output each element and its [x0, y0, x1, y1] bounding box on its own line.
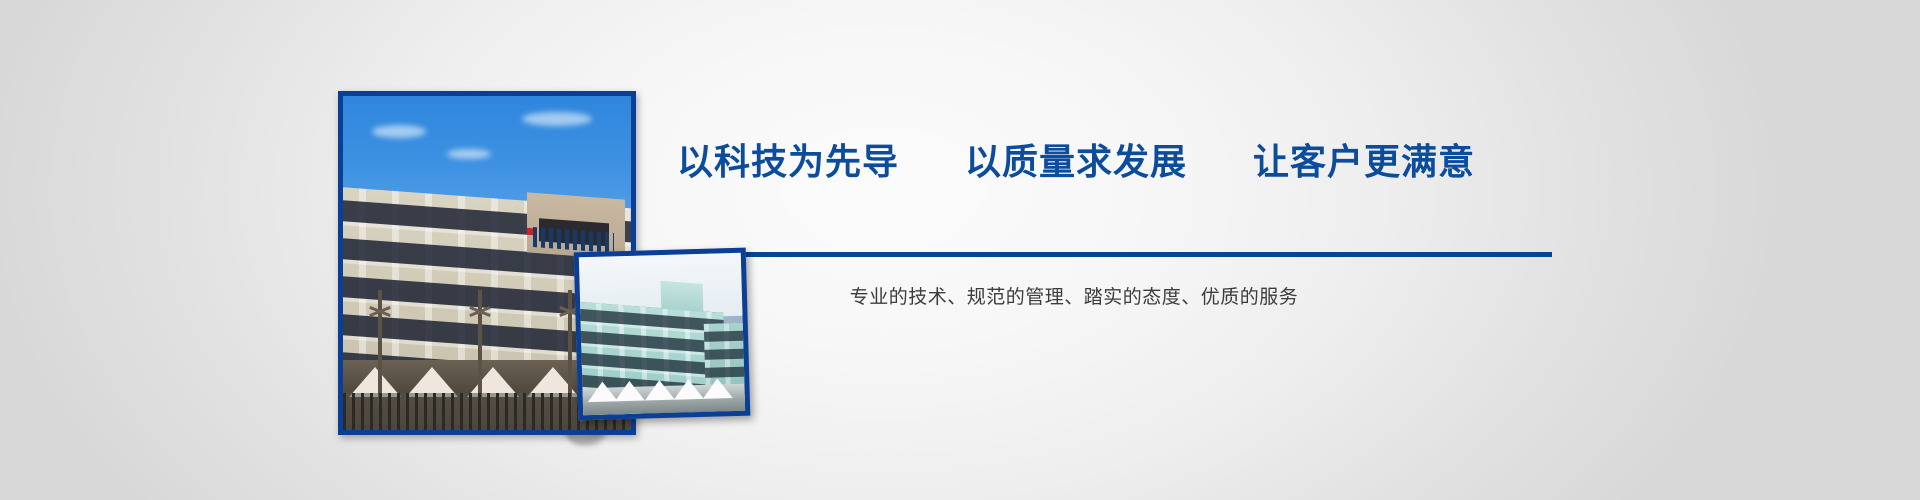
tree [378, 290, 382, 404]
headline-segment-2: 以质量求发展 [965, 138, 1187, 186]
canopy-tent [644, 380, 675, 401]
canopy-tent [587, 382, 618, 403]
canopy-tent [349, 367, 401, 397]
signage-logo-mark [527, 228, 533, 235]
cloud-shape [522, 112, 592, 126]
photo-secondary-content [579, 253, 745, 415]
tree [568, 290, 572, 404]
headline-segment-1: 以科技为先导 [677, 138, 899, 186]
cloud-shape [372, 125, 426, 138]
banner-headline: 以科技为先导 以质量求发展 让客户更满意 [596, 138, 1556, 186]
headline-segment-3: 让客户更满意 [1253, 138, 1475, 186]
tree [478, 290, 482, 404]
canopy-tent [406, 367, 458, 397]
canopy-tent [467, 367, 519, 397]
photo-office-building-secondary[interactable] [574, 248, 751, 421]
canopy-tent [702, 378, 733, 399]
canopy-tent [615, 381, 646, 402]
hero-banner: 以科技为先导 以质量求发展 让客户更满意 专业的技术、规范的管理、踏实的态度、优… [0, 0, 1920, 500]
canopy-tent [673, 379, 704, 400]
cloud-shape [447, 149, 491, 159]
